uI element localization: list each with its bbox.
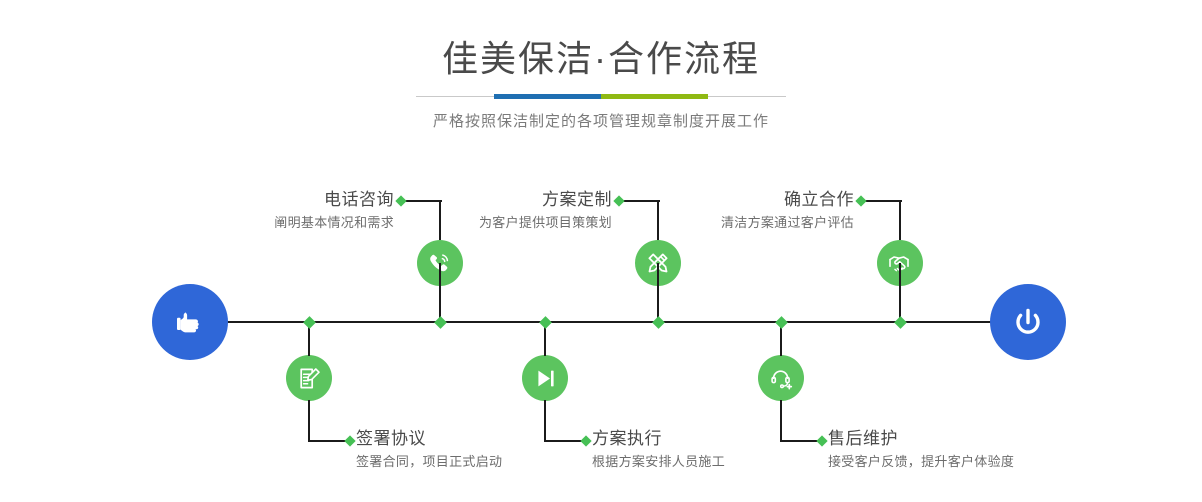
step-marker-diamond (855, 195, 866, 206)
step-title: 售后维护 (828, 428, 1168, 450)
step-leader (545, 440, 585, 442)
step-subtitle: 接受客户反馈，提升客户体验度 (828, 450, 1168, 472)
step-stem-upper (899, 201, 901, 240)
pointing-hand-icon (170, 302, 210, 342)
step-stem (899, 263, 901, 321)
axis-marker-diamond (434, 316, 447, 329)
axis-marker-diamond (894, 316, 907, 329)
step-label: 确立合作 清洁方案通过客户评估 (512, 189, 854, 233)
axis-marker-diamond (303, 316, 316, 329)
step-marker-diamond (344, 435, 355, 446)
step-label: 售后维护 接受客户反馈，提升客户体验度 (828, 428, 1168, 472)
axis-marker-diamond (539, 316, 552, 329)
step-icon-circle (286, 355, 332, 401)
process-flow-diagram: 电话咨询 阐明基本情况和需求 方案定制 为客户提供项目策策划 (0, 0, 1202, 502)
step-stem (657, 263, 659, 321)
step-subtitle: 清洁方案通过客户评估 (512, 211, 854, 233)
step-icon-circle (522, 355, 568, 401)
customer-support-icon (769, 366, 794, 391)
document-edit-icon (297, 366, 322, 391)
step-leader (862, 200, 902, 202)
step-leader (309, 440, 349, 442)
step-title: 确立合作 (512, 189, 854, 211)
power-icon (1008, 302, 1048, 342)
axis-marker-diamond (652, 316, 665, 329)
flow-end-node (990, 284, 1066, 360)
step-icon-circle (758, 355, 804, 401)
step-stem (439, 263, 441, 321)
step-stem-lower (544, 400, 546, 442)
play-skip-icon (533, 366, 558, 391)
axis-marker-diamond (775, 316, 788, 329)
step-stem-lower (780, 400, 782, 442)
flow-start-node (152, 284, 228, 360)
step-stem-lower (308, 400, 310, 442)
step-leader (781, 440, 821, 442)
